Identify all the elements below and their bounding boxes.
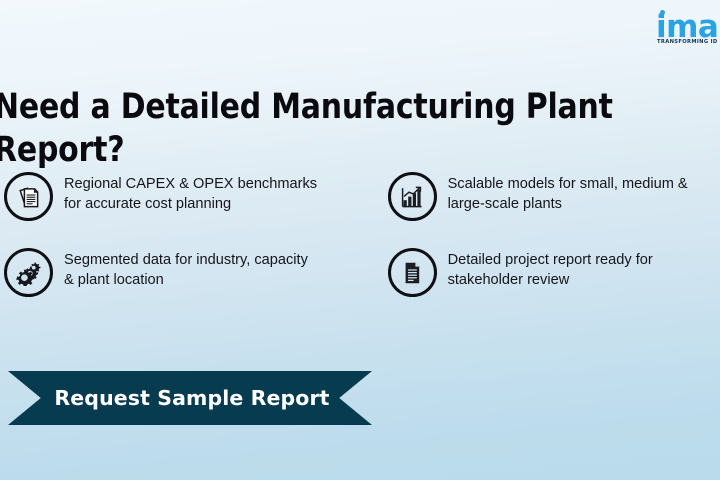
gears-icon: [4, 248, 53, 297]
imarc-logo[interactable]: ima TRANSFORMING ID: [656, 4, 720, 48]
feature-item-project-report: Detailed project report ready for stakeh…: [376, 248, 720, 297]
feature-label: Scalable models for small, medium & larg…: [448, 172, 696, 214]
feature-item-capex-opex: Regional CAPEX & OPEX benchmarks for acc…: [0, 172, 376, 221]
feature-item-segmented-data: Segmented data for industry, capacity & …: [0, 248, 376, 297]
page-title: Need a Detailed Manufacturing Plant Repo…: [0, 86, 650, 171]
feature-label: Regional CAPEX & OPEX benchmarks for acc…: [64, 172, 319, 214]
bar-chart-growth-icon: [388, 172, 437, 221]
feature-item-scalable-models: Scalable models for small, medium & larg…: [376, 172, 720, 221]
feature-label: Detailed project report ready for stakeh…: [448, 248, 696, 290]
document-filled-icon: [388, 248, 437, 297]
feature-label: Segmented data for industry, capacity & …: [64, 248, 319, 290]
feature-row: Regional CAPEX & OPEX benchmarks for acc…: [0, 172, 720, 221]
request-sample-report-button[interactable]: Request Sample Report: [8, 371, 372, 425]
cta-label: Request Sample Report: [54, 386, 329, 410]
feature-list: Regional CAPEX & OPEX benchmarks for acc…: [0, 172, 720, 297]
document-lines-icon: [4, 172, 53, 221]
logo-tagline: TRANSFORMING ID: [657, 40, 718, 45]
feature-row: Segmented data for industry, capacity & …: [0, 248, 720, 297]
promo-banner: ima TRANSFORMING ID Need a Detailed Manu…: [0, 0, 720, 480]
